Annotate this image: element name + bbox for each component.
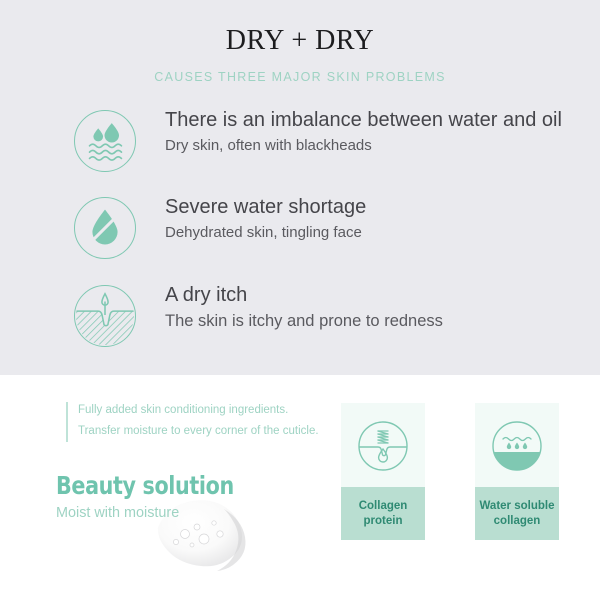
problem-row: There is an imbalance between water and … — [74, 110, 574, 190]
brand-block: Beauty solution Moist with moisture — [56, 471, 356, 521]
brand-title: Beauty solution — [56, 471, 332, 500]
problem-subtext: Dry skin, often with blackheads — [165, 136, 585, 156]
ingredient-label-line2: protein — [364, 515, 403, 527]
ingredient-icon-panel — [475, 403, 559, 487]
problem-text: Severe water shortage Dehydrated skin, t… — [165, 195, 585, 243]
problem-row: Severe water shortage Dehydrated skin, t… — [74, 197, 574, 277]
ingredient-label-line2: collagen — [494, 515, 541, 527]
problem-heading: Severe water shortage — [165, 195, 585, 220]
ingredient-label: Water soluble collagen — [480, 499, 555, 529]
problem-text: A dry itch The skin is itchy and prone t… — [165, 283, 585, 332]
problem-text: There is an imbalance between water and … — [165, 108, 585, 156]
skin-follicle-icon — [74, 285, 136, 347]
no-water-drop-icon — [74, 197, 136, 259]
solution-panel: Fully added skin conditioning ingredient… — [0, 375, 600, 600]
infographic-page: DRY + DRY CAUSES THREE MAJOR SKIN PROBLE… — [0, 0, 600, 600]
ingredient-label-line1: Water soluble — [480, 500, 555, 512]
problem-subtext: Dehydrated skin, tingling face — [165, 223, 585, 243]
claim-line: Transfer moisture to every corner of the… — [78, 421, 356, 442]
ingredient-card[interactable]: Water soluble collagen — [475, 403, 559, 540]
problem-heading: A dry itch — [165, 283, 585, 308]
problem-heading: There is an imbalance between water and … — [165, 108, 585, 133]
collagen-coil-drop-icon — [357, 420, 409, 472]
problems-panel: DRY + DRY CAUSES THREE MAJOR SKIN PROBLE… — [0, 0, 600, 375]
page-subtitle: CAUSES THREE MAJOR SKIN PROBLEMS — [0, 70, 600, 84]
water-level-waves-icon — [491, 420, 543, 472]
accent-bar — [66, 402, 68, 442]
page-title: DRY + DRY — [0, 25, 600, 57]
claim-line: Fully added skin conditioning ingredient… — [78, 400, 356, 421]
ingredient-label: Collagen protein — [359, 499, 408, 529]
water-drops-waves-icon — [74, 110, 136, 172]
ingredient-label-band: Water soluble collagen — [475, 487, 559, 540]
claims-block: Fully added skin conditioning ingredient… — [66, 400, 356, 442]
problem-subtext: The skin is itchy and prone to redness — [165, 311, 585, 332]
ingredient-label-line1: Collagen — [359, 500, 408, 512]
brand-subtitle: Moist with moisture — [56, 504, 344, 521]
problem-row: A dry itch The skin is itchy and prone t… — [74, 285, 574, 365]
